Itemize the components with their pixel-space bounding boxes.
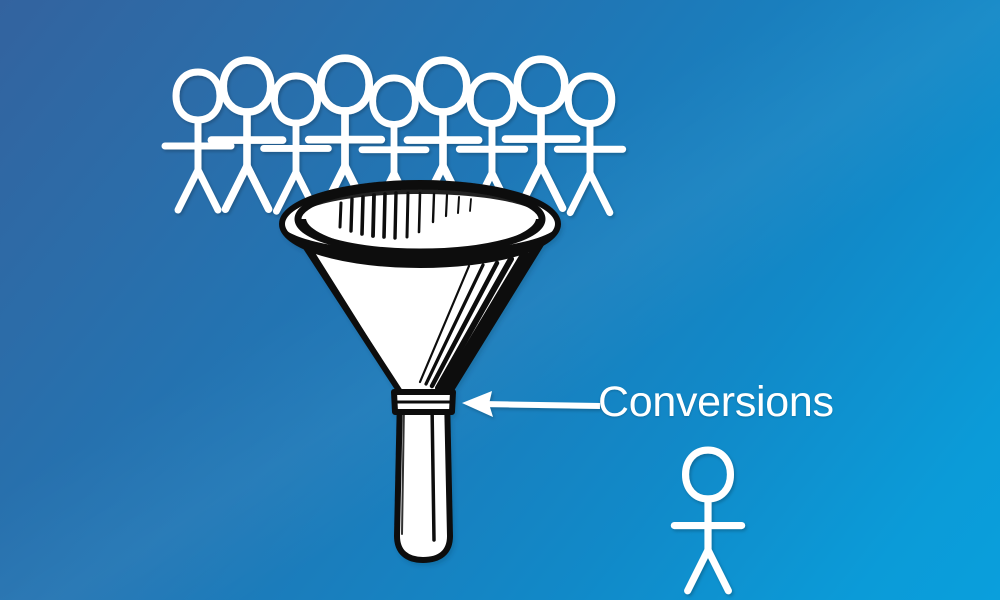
- converted-stick-figure: [674, 450, 741, 591]
- funnel-illustration-canvas: Conversions: [0, 0, 1000, 600]
- conversions-label: Conversions: [598, 381, 834, 424]
- funnel-stem: [397, 396, 450, 560]
- funnel-rim: [282, 183, 558, 265]
- stick-figure: [211, 60, 282, 209]
- funnel-collar: [394, 392, 453, 412]
- conversions-arrow: [462, 391, 600, 417]
- stick-figure: [557, 76, 622, 213]
- funnel-illustration: [282, 183, 558, 560]
- illustration-layer: [0, 0, 1000, 600]
- stick-figure: [505, 59, 576, 208]
